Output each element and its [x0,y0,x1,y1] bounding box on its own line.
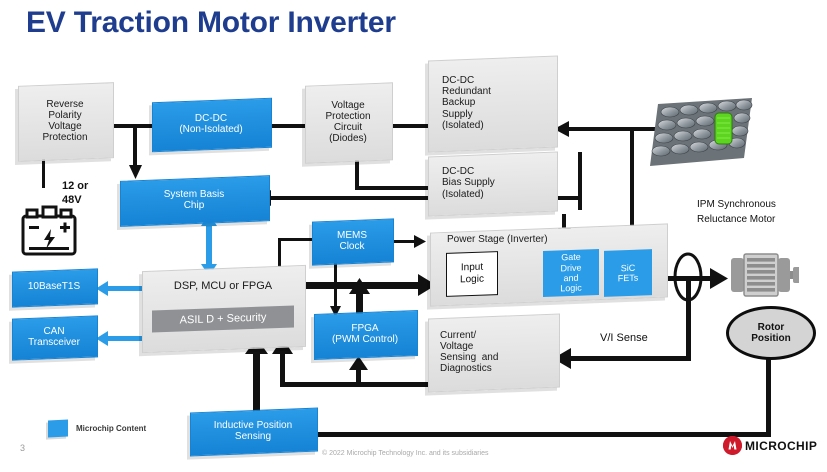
block-label: Current/ Voltage Sensing and Diagnostics [428,330,558,375]
block-dcdc-bias-supply[interactable]: DC-DC Bias Supply (Isolated) [428,154,556,212]
slide-canvas: EV Traction Motor Inverter [0,0,827,472]
line-vi-sense-left [568,356,691,361]
block-rotor-position[interactable]: Rotor Position [726,306,816,360]
line-pack-to-redundant [566,127,656,131]
block-label: Reverse Polarity Voltage Protection [18,99,112,144]
arrowhead-fpga-up [349,278,370,294]
block-label: Power Stage (Inverter) [444,234,551,245]
block-label: DSP, MCU or FPGA [142,280,304,292]
input-logic-label: Input Logic [460,262,484,287]
arrowhead-down-sbc [128,165,143,179]
block-label: Voltage Protection Circuit (Diodes) [305,100,391,145]
block-10baset1s[interactable]: 10BaseT1S [12,270,96,304]
vi-sense-label: V/I Sense [600,332,648,344]
microchip-logo: MICROCHIP [723,436,817,455]
block-reverse-polarity-voltage-protection[interactable]: Reverse Polarity Voltage Protection [18,84,112,158]
line-dsp-to-mems [278,238,314,241]
block-can-transceiver[interactable]: CAN Transceiver [12,317,96,357]
block-label: MEMS Clock [312,230,392,252]
block-dcdc-non-isolated[interactable]: DC-DC (Non-Isolated) [152,100,270,148]
gate-drive-label: Gate Drive and Logic [560,252,582,294]
copyright-notice: © 2022 Microchip Technology Inc. and its… [322,450,489,457]
block-inductive-position-sensing[interactable]: Inductive Position Sensing [190,410,316,452]
line-redundant-down [578,152,582,210]
line-rotor-down [766,352,771,437]
block-label: System Basis Chip [120,189,268,211]
legend-swatch-icon [48,419,68,437]
current-sensor-loop-icon [672,252,704,302]
block-input-logic[interactable]: Input Logic [446,251,498,297]
block-voltage-protection-circuit[interactable]: Voltage Protection Circuit (Diodes) [305,84,391,160]
block-label: 10BaseT1S [12,281,96,292]
block-gate-drive-and-logic[interactable]: Gate Drive and Logic [543,249,599,297]
electric-motor-icon [727,252,799,300]
motor-caption: IPM Synchronous Reluctance Motor [697,198,776,227]
battery-icon [17,205,81,257]
block-label: DC-DC Bias Supply (Isolated) [428,166,556,200]
battery-pack-photo [648,96,754,168]
block-label: DC-DC (Non-Isolated) [152,113,270,135]
block-label: FPGA (PWM Control) [314,323,416,345]
arrowhead-motor [710,268,728,289]
microchip-mark-icon [723,436,742,455]
block-label: Inductive Position Sensing [190,420,316,442]
block-dcdc-redundant-backup-supply[interactable]: DC-DC Redundant Backup Supply (Isolated) [428,58,556,148]
line-sense-bus [280,382,440,387]
block-fpga-pwm-control[interactable]: FPGA (PWM Control) [314,312,416,356]
block-label: DC-DC Redundant Backup Supply (Isolated) [428,75,556,131]
line-rotor-bottom-bus [300,432,771,437]
slide-number: 3 [20,443,25,453]
line-inductive-up [253,348,260,414]
battery-voltage-label: 12 or 48V [62,180,88,208]
block-sic-fets[interactable]: SiC FETs [604,249,652,297]
line-vprot-to-bias [355,186,435,190]
page-title: EV Traction Motor Inverter [26,6,396,40]
sic-fets-label: SiC FETs [618,262,639,283]
block-label: CAN Transceiver [12,326,96,348]
legend-label: Microchip Content [76,424,146,433]
arrowhead-mems-right [414,235,426,248]
rotor-position-label: Rotor Position [751,322,790,345]
line-trunk-down-to-sbc [133,124,137,170]
microchip-wordmark: MICROCHIP [745,439,817,453]
block-system-basis-chip[interactable]: System Basis Chip [120,178,268,222]
block-mems-clock[interactable]: MEMS Clock [312,220,392,262]
block-current-voltage-sensing-diagnostics[interactable]: Current/ Voltage Sensing and Diagnostics [428,316,558,388]
